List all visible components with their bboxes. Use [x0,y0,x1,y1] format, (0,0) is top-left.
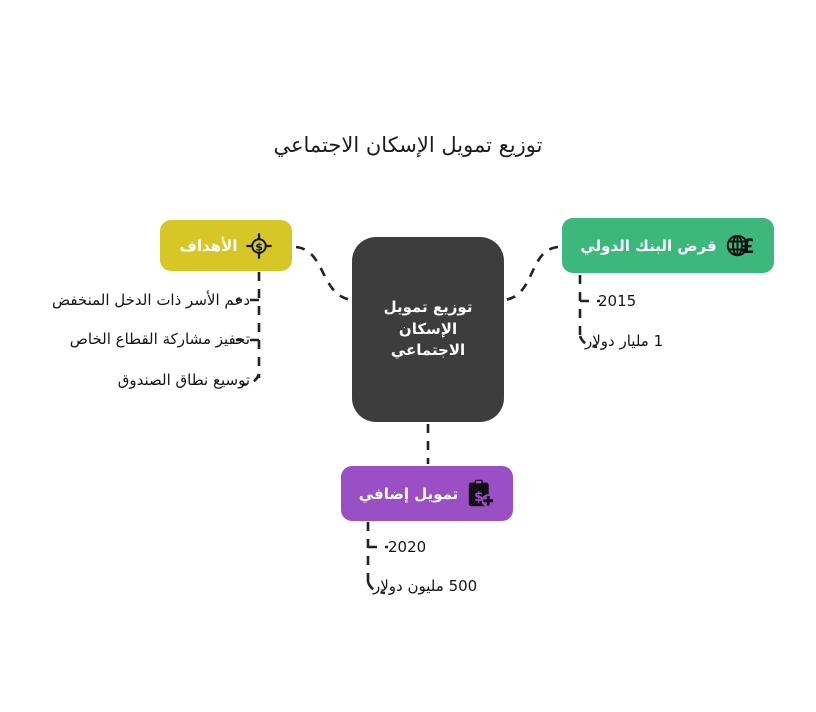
leaf-goals-2: توسيع نطاق الصندوق [118,371,250,390]
clipboard-dollar-plus-icon: $ [467,479,495,508]
mindmap-canvas: توزيع تمويل الإسكان الاجتماعي توزيع تموي… [0,0,816,712]
node-loan-label: قرض البنك الدولي [580,237,716,255]
node-extra[interactable]: تمويل إضافي $ [341,466,513,521]
svg-text:£: £ [741,235,755,258]
globe-currency-icon: £ [726,232,756,259]
svg-text:$: $ [256,240,264,253]
node-center-label-line3: الاجتماعي [391,340,465,362]
node-center-label-line2: الإسكان [399,319,457,341]
link-center-goals [296,247,352,300]
node-extra-label: تمويل إضافي [359,485,459,503]
node-center-label-line1: توزيع تمويل [384,297,473,319]
leaf-loan-0: 2015 [598,292,636,311]
bullseye-dollar-icon: $ [246,233,272,259]
node-goals-label: الأهداف [180,237,238,255]
node-loan[interactable]: قرض البنك الدولي £ [562,218,774,273]
node-center[interactable]: توزيع تمويل الإسكان الاجتماعي [352,237,504,422]
link-center-loan [504,247,558,300]
node-goals[interactable]: الأهداف $ [160,220,292,271]
leaf-goals-0: دعم الأسر ذات الدخل المنخفض [52,291,250,310]
leaf-loan-1: 1 مليار دولار [585,332,663,351]
leaf-goals-1: تحفيز مشاركة القطاع الخاص [70,330,250,349]
leaf-extra-0: 2020 [388,538,426,557]
leaf-extra-1: 500 مليون دولار [373,577,477,596]
page-title: توزيع تمويل الإسكان الاجتماعي [0,132,816,159]
